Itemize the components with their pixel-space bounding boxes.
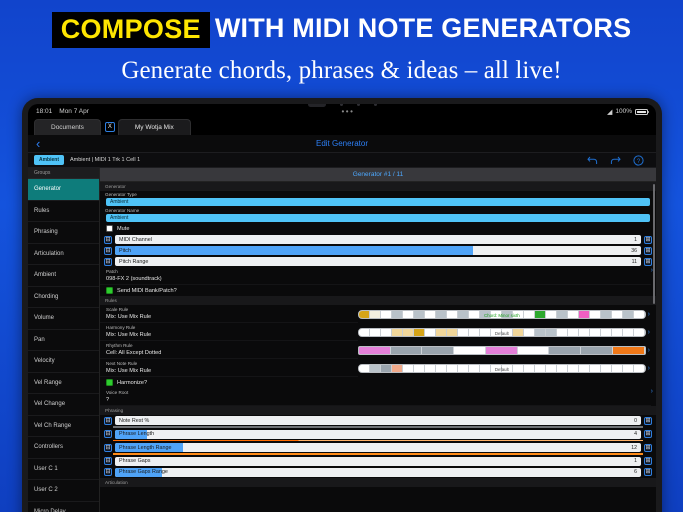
section-header-generator: Generator: [100, 182, 656, 191]
tablet-screen: 18:01 Mon 7 Apr ••• ◢ 100% Documents X M…: [28, 104, 656, 512]
phrase-gaps-range-label: Phrase Gaps Range: [115, 469, 168, 475]
help-icon[interactable]: ?: [633, 155, 644, 166]
phrase-length-value: 4: [634, 431, 637, 437]
sidebar-item-phrasing[interactable]: Phrasing: [28, 222, 99, 244]
phrase-length-range-value: 12: [631, 445, 637, 451]
rhythm-rule-grid-area[interactable]: ›: [358, 341, 656, 359]
promo-subheadline: Generate chords, phrases & ideas – all l…: [0, 57, 683, 85]
minus-icon[interactable]: ⊟: [104, 444, 112, 452]
harmony-rule-label: Harmony Rule: [105, 324, 358, 331]
svg-text:?: ?: [637, 159, 641, 165]
sidebar-item-velocity[interactable]: Velocity: [28, 351, 99, 373]
sidebar-item-vel-ch-range[interactable]: Vel Ch Range: [28, 416, 99, 438]
scale-rule-text: Scale Rule Mix: Use Mix Rule: [100, 305, 358, 323]
pitch-label: Pitch: [115, 248, 131, 254]
phrase-length-range-row[interactable]: ⊟ Phrase Length Range 12 ⊞: [100, 442, 656, 453]
battery-icon: [635, 109, 648, 115]
pitch-value: 36: [631, 248, 637, 254]
chevron-right-icon[interactable]: ›: [648, 329, 653, 336]
rhythm-rule-value: Cell: All Except Dotted: [105, 349, 358, 357]
status-center-dots: •••: [89, 107, 607, 116]
voice-root-row[interactable]: Voice Root ? ›: [100, 388, 656, 406]
breadcrumb-actions: ?: [587, 155, 650, 166]
phrase-gaps-label: Phrase Gaps: [115, 458, 150, 464]
phrase-gaps-range-value: 6: [634, 469, 637, 475]
midi-channel-slider[interactable]: MIDI Channel 1: [115, 235, 641, 244]
note-rest-underline: [113, 426, 643, 428]
breadcrumb-path: Ambient | MIDI 1 Trk 1 Cell 1: [70, 157, 581, 163]
minus-icon[interactable]: ⊟: [104, 247, 112, 255]
harmony-rule-grid[interactable]: Default: [358, 328, 646, 337]
tablet-device-frame: 18:01 Mon 7 Apr ••• ◢ 100% Documents X M…: [22, 98, 662, 512]
sidebar-item-user-c-2[interactable]: User C 2: [28, 480, 99, 502]
sidebar-item-generator[interactable]: Generator: [28, 179, 99, 201]
harmonize-label: Harmonize?: [117, 380, 147, 386]
doc-tab-my-wotja-mix[interactable]: My Wotja Mix: [118, 119, 191, 135]
scale-rule-grid-label: Chord: Minor sixth: [359, 311, 645, 319]
chevron-right-icon[interactable]: ›: [648, 311, 653, 318]
phrase-length-slider[interactable]: Phrase Length 4: [115, 430, 641, 439]
harmony-rule-row[interactable]: Harmony Rule Mix: Use Mix Rule: [100, 323, 656, 341]
minus-icon[interactable]: ⊟: [104, 468, 112, 476]
scale-rule-value: Mix: Use Mix Rule: [105, 313, 358, 321]
midi-channel-row[interactable]: ⊟ MIDI Channel 1 ⊞: [100, 234, 656, 245]
sidebar-item-ambient[interactable]: Ambient: [28, 265, 99, 287]
sidebar-header: Groups: [28, 168, 99, 179]
generator-index-header: Generator #1 / 11: [100, 168, 656, 182]
close-icon[interactable]: X: [105, 122, 115, 132]
sidebar-item-pan[interactable]: Pan: [28, 330, 99, 352]
plus-icon[interactable]: ⊞: [644, 258, 652, 266]
patch-text: Patch 098-FX 2 (soundtrack): [100, 267, 651, 285]
section-header-articulation: Articulation: [100, 478, 656, 487]
note-rest-value: 0: [634, 418, 637, 424]
minus-icon[interactable]: ⊟: [104, 430, 112, 438]
nav-bar: ‹ Edit Generator: [28, 135, 656, 153]
midi-channel-value: 1: [634, 237, 637, 243]
pitch-range-slider[interactable]: Pitch Range 11: [115, 257, 641, 266]
app-body: Groups Generator Rules Phrasing Articula…: [28, 168, 656, 512]
promo-banner: COMPOSEWITH MIDI NOTE GENERATORS Generat…: [0, 0, 683, 96]
patch-value: 098-FX 2 (soundtrack): [105, 275, 651, 283]
chevron-right-icon[interactable]: ›: [648, 365, 653, 372]
minus-icon[interactable]: ⊟: [104, 417, 112, 425]
rhythm-rule-label: Rhythm Rule: [105, 342, 358, 349]
generator-name-label: Generator Name: [100, 207, 656, 214]
phrase-length-underline: [113, 440, 643, 442]
plus-icon[interactable]: ⊞: [644, 444, 652, 452]
mute-row[interactable]: Mute: [100, 223, 656, 234]
breadcrumb: Ambient Ambient | MIDI 1 Trk 1 Cell 1 ?: [28, 153, 656, 168]
send-midi-bank-label: Send MIDI Bank/Patch?: [117, 288, 177, 294]
voice-root-label: Voice Root: [105, 389, 651, 396]
battery-percent-label: 100%: [615, 108, 632, 115]
sidebar-item-vel-change[interactable]: Vel Change: [28, 394, 99, 416]
chevron-right-icon[interactable]: ›: [651, 388, 656, 406]
pitch-range-row[interactable]: ⊟ Pitch Range 11 ⊞: [100, 256, 656, 267]
sidebar: Groups Generator Rules Phrasing Articula…: [28, 168, 100, 512]
status-time: 18:01: [36, 108, 52, 115]
status-left: 18:01 Mon 7 Apr: [36, 108, 89, 115]
patch-label: Patch: [105, 268, 651, 275]
document-tab-bar[interactable]: Documents X My Wotja Mix: [28, 119, 656, 135]
mute-checkbox[interactable]: [106, 225, 113, 232]
plus-icon[interactable]: ⊞: [644, 417, 652, 425]
section-header-rules: Rules: [100, 296, 656, 305]
harmony-rule-value: Mix: Use Mix Rule: [105, 331, 358, 339]
pitch-row[interactable]: ⊟ Pitch 36 ⊞: [100, 245, 656, 256]
plus-icon[interactable]: ⊞: [644, 457, 652, 465]
plus-icon[interactable]: ⊞: [644, 468, 652, 476]
scale-rule-grid[interactable]: Chord: Minor sixth: [358, 310, 646, 319]
harmony-rule-grid-area[interactable]: Default ›: [358, 323, 656, 341]
rhythm-rule-text: Rhythm Rule Cell: All Except Dotted: [100, 341, 358, 359]
phrase-length-label: Phrase Length: [115, 431, 154, 437]
send-midi-bank-row[interactable]: Send MIDI Bank/Patch?: [100, 285, 656, 296]
generator-name-value[interactable]: Ambient: [106, 214, 650, 222]
main-panel: Generator #1 / 11 Generator Generator Ty…: [100, 168, 656, 512]
note-rest-slider[interactable]: Note Rest % 0: [115, 416, 641, 425]
next-note-rule-text: Next Note Rule Mix: Use Mix Rule: [100, 359, 358, 377]
minus-icon[interactable]: ⊟: [104, 236, 112, 244]
phrase-length-range-label: Phrase Length Range: [115, 445, 171, 451]
harmonize-row[interactable]: Harmonize?: [100, 377, 656, 388]
phrase-gaps-slider[interactable]: Phrase Gaps 1: [115, 457, 641, 466]
rhythm-rule-grid[interactable]: [358, 346, 646, 355]
phrase-length-range-slider[interactable]: Phrase Length Range 12: [115, 443, 641, 452]
scale-rule-row[interactable]: Scale Rule Mix: Use Mix Rule: [100, 305, 656, 323]
doc-tab-documents[interactable]: Documents: [34, 119, 101, 135]
harmonize-checkbox[interactable]: [106, 379, 113, 386]
phrase-gaps-range-row[interactable]: ⊟ Phrase Gaps Range 6 ⊞: [100, 467, 656, 478]
device-camera-dots: [287, 104, 397, 108]
plus-icon[interactable]: ⊞: [644, 236, 652, 244]
sidebar-item-vel-range[interactable]: Vel Range: [28, 373, 99, 395]
sidebar-item-volume[interactable]: Volume: [28, 308, 99, 330]
minus-icon[interactable]: ⊟: [104, 258, 112, 266]
sidebar-item-chording[interactable]: Chording: [28, 287, 99, 309]
promo-headline-rest: WITH MIDI NOTE GENERATORS: [215, 13, 632, 43]
page-title: Edit Generator: [28, 139, 656, 148]
minus-icon[interactable]: ⊟: [104, 457, 112, 465]
breadcrumb-chip[interactable]: Ambient: [34, 155, 64, 165]
chevron-right-icon[interactable]: ›: [648, 347, 653, 354]
plus-icon[interactable]: ⊞: [644, 430, 652, 438]
sidebar-item-micro-delay[interactable]: Micro Delay: [28, 502, 99, 512]
next-note-rule-label: Next Note Rule: [105, 360, 358, 367]
next-note-rule-row[interactable]: Next Note Rule Mix: Use Mix Rule: [100, 359, 656, 377]
next-note-rule-grid[interactable]: Default: [358, 364, 646, 373]
sidebar-item-rules[interactable]: Rules: [28, 201, 99, 223]
plus-icon[interactable]: ⊞: [644, 247, 652, 255]
sidebar-item-controllers[interactable]: Controllers: [28, 437, 99, 459]
phrase-gaps-value: 1: [634, 458, 637, 464]
phrase-length-row[interactable]: ⊟ Phrase Length 4 ⊞: [100, 429, 656, 440]
sidebar-item-user-c-1[interactable]: User C 1: [28, 459, 99, 481]
undo-icon[interactable]: [587, 156, 598, 165]
harmony-rule-grid-label: Default: [359, 329, 645, 337]
pitch-range-label: Pitch Range: [115, 259, 148, 265]
pitch-range-value: 11: [632, 259, 637, 265]
generator-type-label: Generator Type: [100, 191, 656, 198]
midi-channel-label: MIDI Channel: [115, 237, 152, 243]
promo-badge: COMPOSE: [52, 12, 210, 48]
section-header-phrasing: Phrasing: [100, 406, 656, 415]
phrase-gaps-range-slider[interactable]: Phrase Gaps Range 6: [115, 468, 641, 477]
promo-headline: COMPOSEWITH MIDI NOTE GENERATORS: [0, 11, 683, 47]
note-rest-row[interactable]: ⊟ Note Rest % 0 ⊞: [100, 415, 656, 426]
pitch-slider[interactable]: Pitch 36: [115, 246, 641, 255]
generator-type-value[interactable]: Ambient: [106, 198, 650, 206]
next-note-rule-value: Mix: Use Mix Rule: [105, 367, 358, 375]
mute-label: Mute: [117, 226, 129, 232]
phrase-gaps-row[interactable]: ⊟ Phrase Gaps 1 ⊞: [100, 456, 656, 467]
wifi-icon: ◢: [607, 108, 612, 116]
patch-row[interactable]: Patch 098-FX 2 (soundtrack) ›: [100, 267, 656, 285]
scale-rule-grid-area[interactable]: Chord: Minor sixth ›: [358, 305, 656, 323]
next-note-rule-grid-area[interactable]: Default ›: [358, 359, 656, 377]
rhythm-rule-row[interactable]: Rhythm Rule Cell: All Except Dotted: [100, 341, 656, 359]
status-date: Mon 7 Apr: [59, 108, 89, 115]
next-note-rule-grid-label: Default: [359, 365, 645, 373]
phrase-length-range-underline: [113, 453, 643, 455]
voice-root-text: Voice Root ?: [100, 388, 651, 406]
scale-rule-label: Scale Rule: [105, 306, 358, 313]
sidebar-item-articulation[interactable]: Articulation: [28, 244, 99, 266]
send-midi-bank-checkbox[interactable]: [106, 287, 113, 294]
status-right: ◢ 100%: [607, 108, 648, 116]
note-rest-label: Note Rest %: [115, 418, 149, 424]
redo-icon[interactable]: [610, 156, 621, 165]
voice-root-value: ?: [105, 396, 651, 404]
vertical-scrollbar[interactable]: [653, 184, 656, 304]
harmony-rule-text: Harmony Rule Mix: Use Mix Rule: [100, 323, 358, 341]
